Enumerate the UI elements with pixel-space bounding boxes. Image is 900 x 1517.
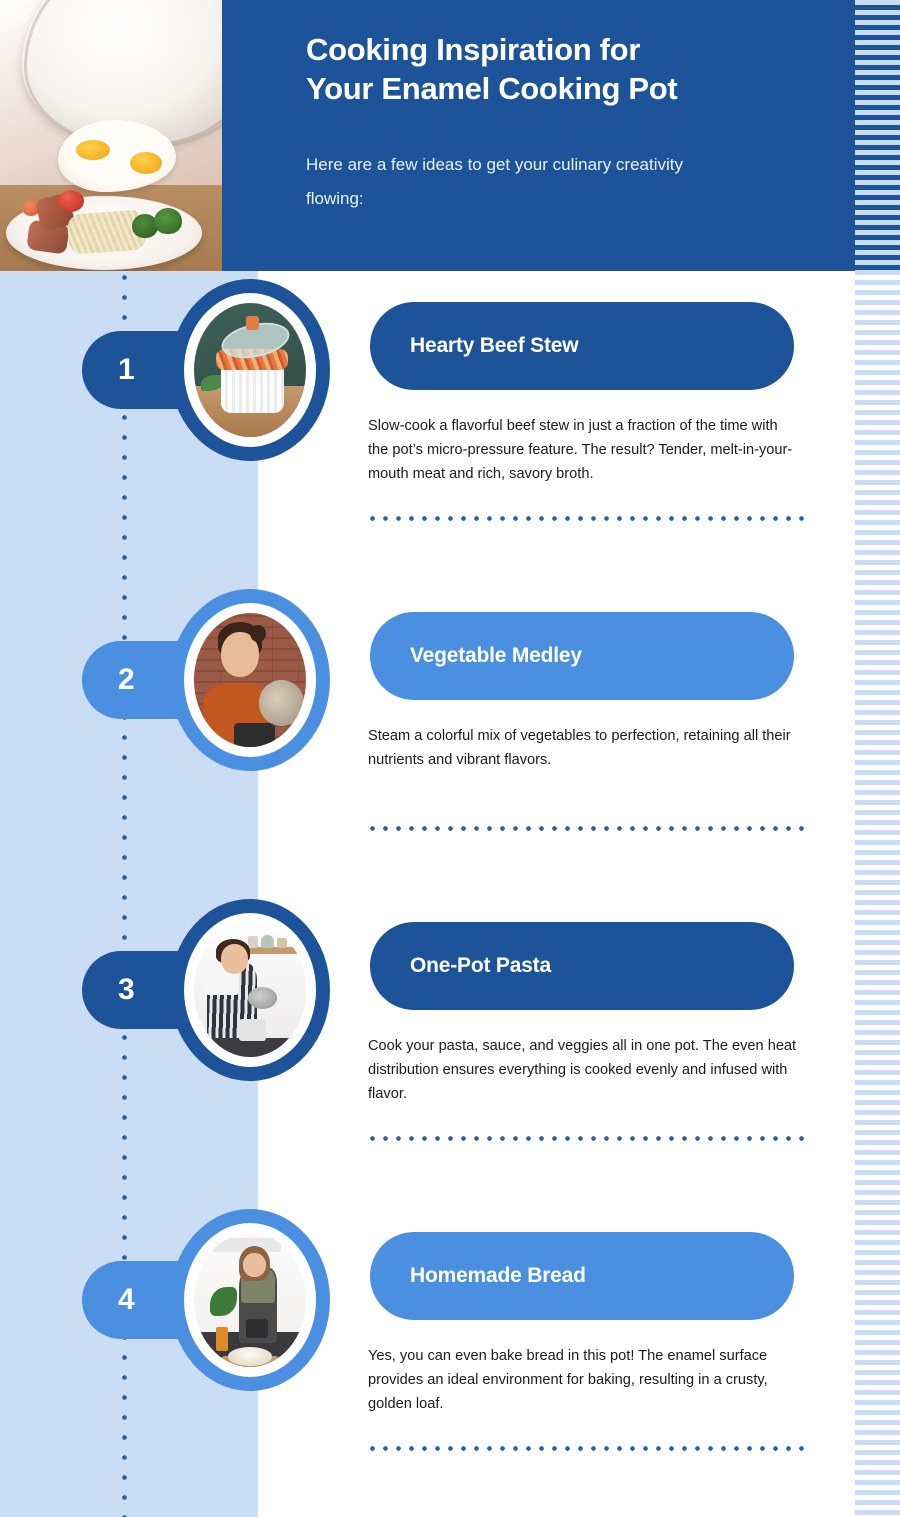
item-title-pill-1[interactable]: Hearty Beef Stew — [370, 302, 794, 390]
item-description: Steam a colorful mix of vegetables to pe… — [368, 724, 800, 772]
item-photo-3 — [194, 923, 306, 1057]
avatar — [170, 1209, 330, 1391]
header: Cooking Inspiration for Your Enamel Cook… — [0, 0, 900, 271]
list-item: 3 One-Pot Pasta Cook your pasta, sauce, … — [0, 891, 900, 1201]
page-title-line-2: Your Enamel Cooking Pot — [306, 69, 826, 108]
item-description: Cook your pasta, sauce, and veggies all … — [368, 1034, 800, 1106]
step-number: 2 — [118, 665, 135, 695]
avatar — [170, 589, 330, 771]
item-title: Homemade Bread — [410, 1264, 586, 1288]
step-number: 4 — [118, 1285, 135, 1315]
avatar — [170, 279, 330, 461]
step-number: 1 — [118, 355, 135, 385]
item-description: Slow-cook a flavorful beef stew in just … — [368, 414, 800, 486]
step-number: 3 — [118, 975, 135, 1005]
item-title-pill-2[interactable]: Vegetable Medley — [370, 612, 794, 700]
item-title-pill-3[interactable]: One-Pot Pasta — [370, 922, 794, 1010]
section-divider — [370, 516, 808, 521]
item-title: Hearty Beef Stew — [410, 334, 578, 358]
list-item: 4 Homemade Bread Yes, you can even bake … — [0, 1201, 900, 1511]
page-subtitle: Here are a few ideas to get your culinar… — [306, 148, 736, 216]
item-title-pill-4[interactable]: Homemade Bread — [370, 1232, 794, 1320]
section-divider — [370, 1136, 808, 1141]
item-photo-1 — [194, 303, 306, 437]
item-title: One-Pot Pasta — [410, 954, 551, 978]
avatar — [170, 899, 330, 1081]
item-title: Vegetable Medley — [410, 644, 582, 668]
page-title-line-1: Cooking Inspiration for — [306, 30, 826, 69]
list-item: 2 Vegetable Medley Steam a colorful mix … — [0, 581, 900, 891]
item-description: Yes, you can even bake bread in this pot… — [368, 1344, 800, 1416]
page-title: Cooking Inspiration for Your Enamel Cook… — [306, 30, 826, 108]
infographic-page: Cooking Inspiration for Your Enamel Cook… — [0, 0, 900, 1517]
list-item: 1 Hearty Beef Stew Slow-cook a flavorful… — [0, 271, 900, 581]
item-photo-4 — [194, 1233, 306, 1367]
section-divider — [370, 826, 808, 831]
header-photo — [0, 0, 222, 271]
item-photo-2 — [194, 613, 306, 747]
section-divider — [370, 1446, 808, 1451]
